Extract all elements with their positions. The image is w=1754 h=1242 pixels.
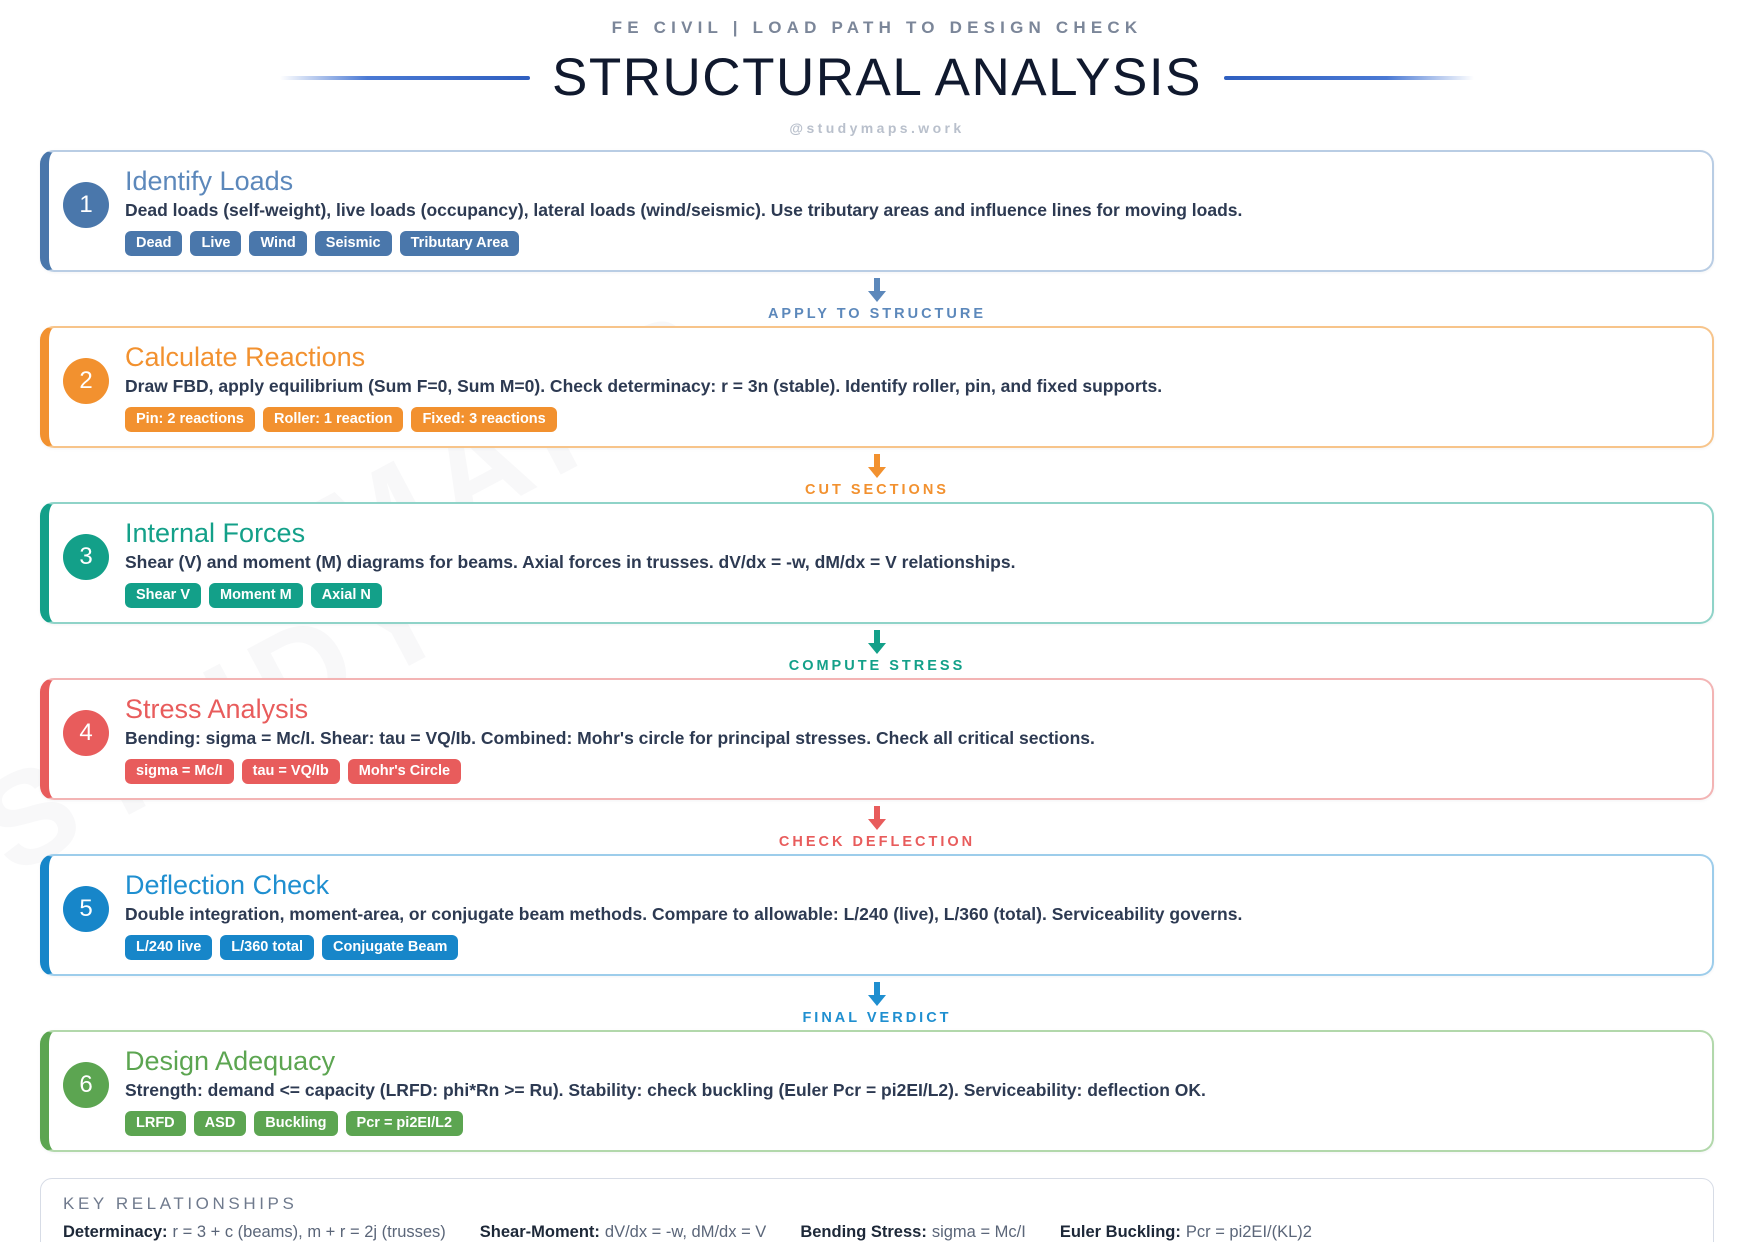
arrow-down-icon [868,982,886,1006]
key-relationships-list: Determinacy:r = 3 + c (beams), m + r = 2… [63,1223,1691,1242]
header-eyebrow: FE CIVIL | LOAD PATH TO DESIGN CHECK [40,18,1714,38]
step-number-badge: 2 [63,358,109,404]
step-connector: CHECK DEFLECTION [40,800,1714,854]
step-number-badge: 3 [63,534,109,580]
step-card-body: Design AdequacyStrength: demand <= capac… [125,1046,1694,1136]
step-tag: Tributary Area [400,231,520,256]
step-tag: Mohr's Circle [348,759,461,784]
step-card-5: 5Deflection CheckDouble integration, mom… [40,854,1714,976]
key-relationships-panel: KEY RELATIONSHIPS Determinacy:r = 3 + c … [40,1178,1714,1242]
connector-label: FINAL VERDICT [802,1010,951,1026]
arrow-head [868,467,886,478]
step-description: Dead loads (self-weight), live loads (oc… [125,199,1694,222]
step-number-badge: 1 [63,182,109,228]
key-relationship-label: Shear-Moment: [480,1223,600,1241]
step-connector: CUT SECTIONS [40,448,1714,502]
arrow-down-icon [868,630,886,654]
step-card-body: Deflection CheckDouble integration, mome… [125,870,1694,960]
arrow-stem [874,454,880,467]
step-connector: COMPUTE STRESS [40,624,1714,678]
step-number-badge: 5 [63,886,109,932]
step-description: Bending: sigma = Mc/I. Shear: tau = VQ/I… [125,727,1694,750]
step-tag: LRFD [125,1111,186,1136]
key-relationship-item: Bending Stress:sigma = Mc/I [800,1223,1026,1242]
title-rule-right [1224,76,1474,80]
step-tag: Pcr = pi2EI/L2 [346,1111,464,1136]
step-card-body: Stress AnalysisBending: sigma = Mc/I. Sh… [125,694,1694,784]
key-relationship-item: Euler Buckling:Pcr = pi2EI/(KL)2 [1060,1223,1312,1242]
step-title: Deflection Check [125,870,1694,900]
step-description: Draw FBD, apply equilibrium (Sum F=0, Su… [125,375,1694,398]
step-tag: Shear V [125,583,201,608]
step-tag: L/240 live [125,935,212,960]
step-tag-list: sigma = Mc/Itau = VQ/IbMohr's Circle [125,759,1694,784]
key-relationship-value: sigma = Mc/I [932,1223,1026,1241]
step-tag: tau = VQ/Ib [242,759,340,784]
connector-label: CUT SECTIONS [805,482,949,498]
arrow-stem [874,806,880,819]
step-tag: Moment M [209,583,303,608]
page-title: STRUCTURAL ANALYSIS [552,47,1202,108]
step-tag-list: Shear VMoment MAxial N [125,583,1694,608]
step-card-1: 1Identify LoadsDead loads (self-weight),… [40,150,1714,272]
page-header: FE CIVIL | LOAD PATH TO DESIGN CHECK STR… [40,0,1714,136]
arrow-head [868,995,886,1006]
step-card-6: 6Design AdequacyStrength: demand <= capa… [40,1030,1714,1152]
arrow-head [868,643,886,654]
step-title: Internal Forces [125,518,1694,548]
arrow-stem [874,278,880,291]
step-tag: Fixed: 3 reactions [411,407,556,432]
key-relationships-heading: KEY RELATIONSHIPS [63,1194,1691,1214]
step-description: Strength: demand <= capacity (LRFD: phi*… [125,1079,1694,1102]
key-relationship-item: Shear-Moment:dV/dx = -w, dM/dx = V [480,1223,767,1242]
step-title: Stress Analysis [125,694,1694,724]
arrow-down-icon [868,454,886,478]
arrow-down-icon [868,806,886,830]
step-tag: Conjugate Beam [322,935,458,960]
key-relationship-label: Euler Buckling: [1060,1223,1181,1241]
step-card-3: 3Internal ForcesShear (V) and moment (M)… [40,502,1714,624]
arrow-down-icon [868,278,886,302]
step-tag: ASD [194,1111,247,1136]
step-card-body: Calculate ReactionsDraw FBD, apply equil… [125,342,1694,432]
step-tag: L/360 total [220,935,314,960]
step-tag: Roller: 1 reaction [263,407,403,432]
key-relationship-label: Determinacy: [63,1223,168,1241]
connector-label: CHECK DEFLECTION [779,834,975,850]
step-tag: Live [190,231,241,256]
step-title: Design Adequacy [125,1046,1694,1076]
step-card-body: Identify LoadsDead loads (self-weight), … [125,166,1694,256]
step-description: Double integration, moment-area, or conj… [125,903,1694,926]
poster-root: MAPS STUDY FE CIVIL | LOAD PATH TO DESIG… [0,0,1754,1242]
step-number-badge: 6 [63,1062,109,1108]
connector-label: COMPUTE STRESS [789,658,966,674]
arrow-head [868,819,886,830]
arrow-stem [874,630,880,643]
arrow-stem [874,982,880,995]
step-tag: Buckling [254,1111,337,1136]
step-title: Calculate Reactions [125,342,1694,372]
key-relationship-value: r = 3 + c (beams), m + r = 2j (trusses) [173,1223,446,1241]
step-card-body: Internal ForcesShear (V) and moment (M) … [125,518,1694,608]
step-number-badge: 4 [63,710,109,756]
step-tag-list: L/240 liveL/360 totalConjugate Beam [125,935,1694,960]
key-relationship-value: Pcr = pi2EI/(KL)2 [1186,1223,1312,1241]
step-tag: Wind [249,231,306,256]
key-relationship-label: Bending Stress: [800,1223,927,1241]
key-relationship-item: Determinacy:r = 3 + c (beams), m + r = 2… [63,1223,446,1242]
step-tag: Seismic [315,231,392,256]
author-handle: @studymaps.work [40,120,1714,136]
steps-flow: 1Identify LoadsDead loads (self-weight),… [40,150,1714,1152]
key-relationship-value: dV/dx = -w, dM/dx = V [605,1223,766,1241]
step-tag: sigma = Mc/I [125,759,234,784]
step-tag-list: LRFDASDBucklingPcr = pi2EI/L2 [125,1111,1694,1136]
step-tag: Dead [125,231,182,256]
step-card-4: 4Stress AnalysisBending: sigma = Mc/I. S… [40,678,1714,800]
step-card-2: 2Calculate ReactionsDraw FBD, apply equi… [40,326,1714,448]
title-rule-left [280,76,530,80]
step-description: Shear (V) and moment (M) diagrams for be… [125,551,1694,574]
step-connector: APPLY TO STRUCTURE [40,272,1714,326]
title-row: STRUCTURAL ANALYSIS [40,47,1714,108]
arrow-head [868,291,886,302]
step-tag-list: DeadLiveWindSeismicTributary Area [125,231,1694,256]
step-tag-list: Pin: 2 reactionsRoller: 1 reactionFixed:… [125,407,1694,432]
step-title: Identify Loads [125,166,1694,196]
step-tag: Axial N [311,583,382,608]
step-connector: FINAL VERDICT [40,976,1714,1030]
step-tag: Pin: 2 reactions [125,407,255,432]
connector-label: APPLY TO STRUCTURE [768,306,986,322]
